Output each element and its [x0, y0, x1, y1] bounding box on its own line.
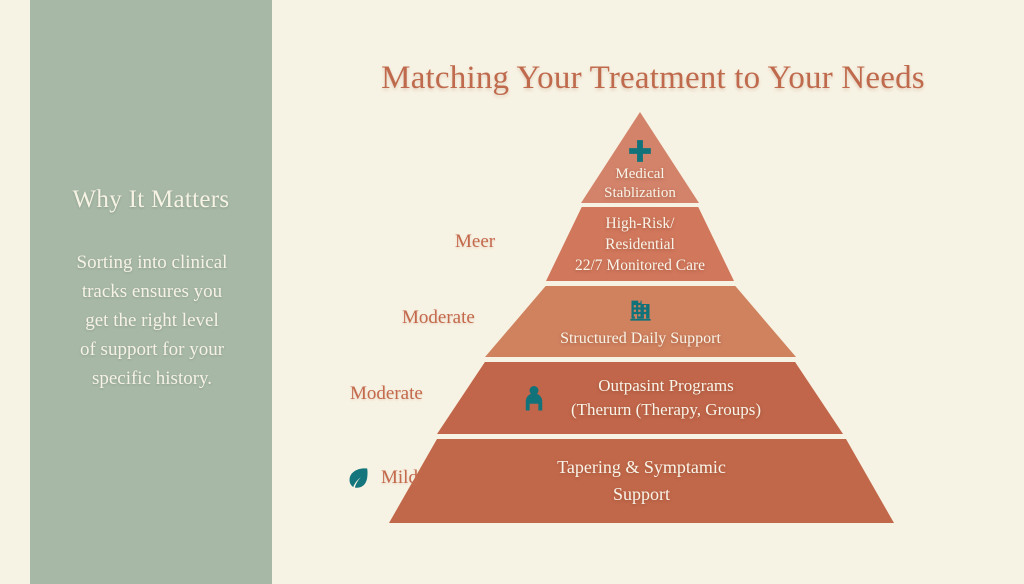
tier-2-line: High-Risk/: [575, 213, 705, 234]
severity-label-tier-4: Moderate: [350, 383, 423, 405]
tier-5-line: Support: [557, 481, 726, 508]
pyramid-tier-3[interactable]: Structured Daily Support: [485, 286, 796, 357]
pyramid-tier-5-label: Tapering & Symptamic Support: [557, 454, 726, 508]
tier-5-line: Tapering & Symptamic: [557, 454, 726, 481]
treatment-pyramid: Medical Stablization High-Risk/ Resident…: [0, 0, 1024, 584]
person-icon: [519, 383, 549, 413]
pyramid-tier-1-label: Medical Stablization: [604, 165, 676, 203]
tier-1-line: Stablization: [604, 184, 676, 203]
tier-4-line: Outpasint Programs: [598, 374, 734, 398]
tier-1-line: Medical: [604, 165, 676, 184]
tier-4-row: Outpasint Programs (Therurn (Therapy, Gr…: [519, 374, 761, 422]
slide-canvas: Why It Matters Sorting into clinical tra…: [0, 0, 1024, 584]
tier-3-line: Structured Daily Support: [560, 328, 721, 349]
pyramid-tier-1[interactable]: Medical Stablization: [581, 112, 699, 203]
pyramid-tier-2[interactable]: High-Risk/ Residential 22/7 Monitored Ca…: [546, 207, 734, 281]
severity-label-tier-5: Mild: [381, 467, 418, 489]
leaf-icon: [345, 465, 371, 491]
pyramid-tier-4[interactable]: Outpasint Programs (Therurn (Therapy, Gr…: [437, 362, 843, 434]
building-icon: [627, 295, 654, 322]
tier-4-line: (Therurn (Therapy, Groups): [571, 398, 761, 422]
pyramid-tier-3-label: Structured Daily Support: [560, 328, 721, 349]
pyramid-tier-4-label: Outpasint Programs (Therurn (Therapy, Gr…: [571, 374, 761, 422]
tier-2-line: 22/7 Monitored Care: [575, 255, 705, 276]
severity-label-tier-2: Meer: [455, 231, 495, 253]
pyramid-tier-5[interactable]: Tapering & Symptamic Support: [389, 439, 894, 523]
severity-label-tier-5-group: Mild: [345, 465, 418, 491]
medical-cross-icon: [627, 138, 653, 164]
tier-2-line: Residential: [575, 234, 705, 255]
severity-label-tier-3: Moderate: [402, 307, 475, 329]
pyramid-tier-2-label: High-Risk/ Residential 22/7 Monitored Ca…: [575, 213, 705, 276]
